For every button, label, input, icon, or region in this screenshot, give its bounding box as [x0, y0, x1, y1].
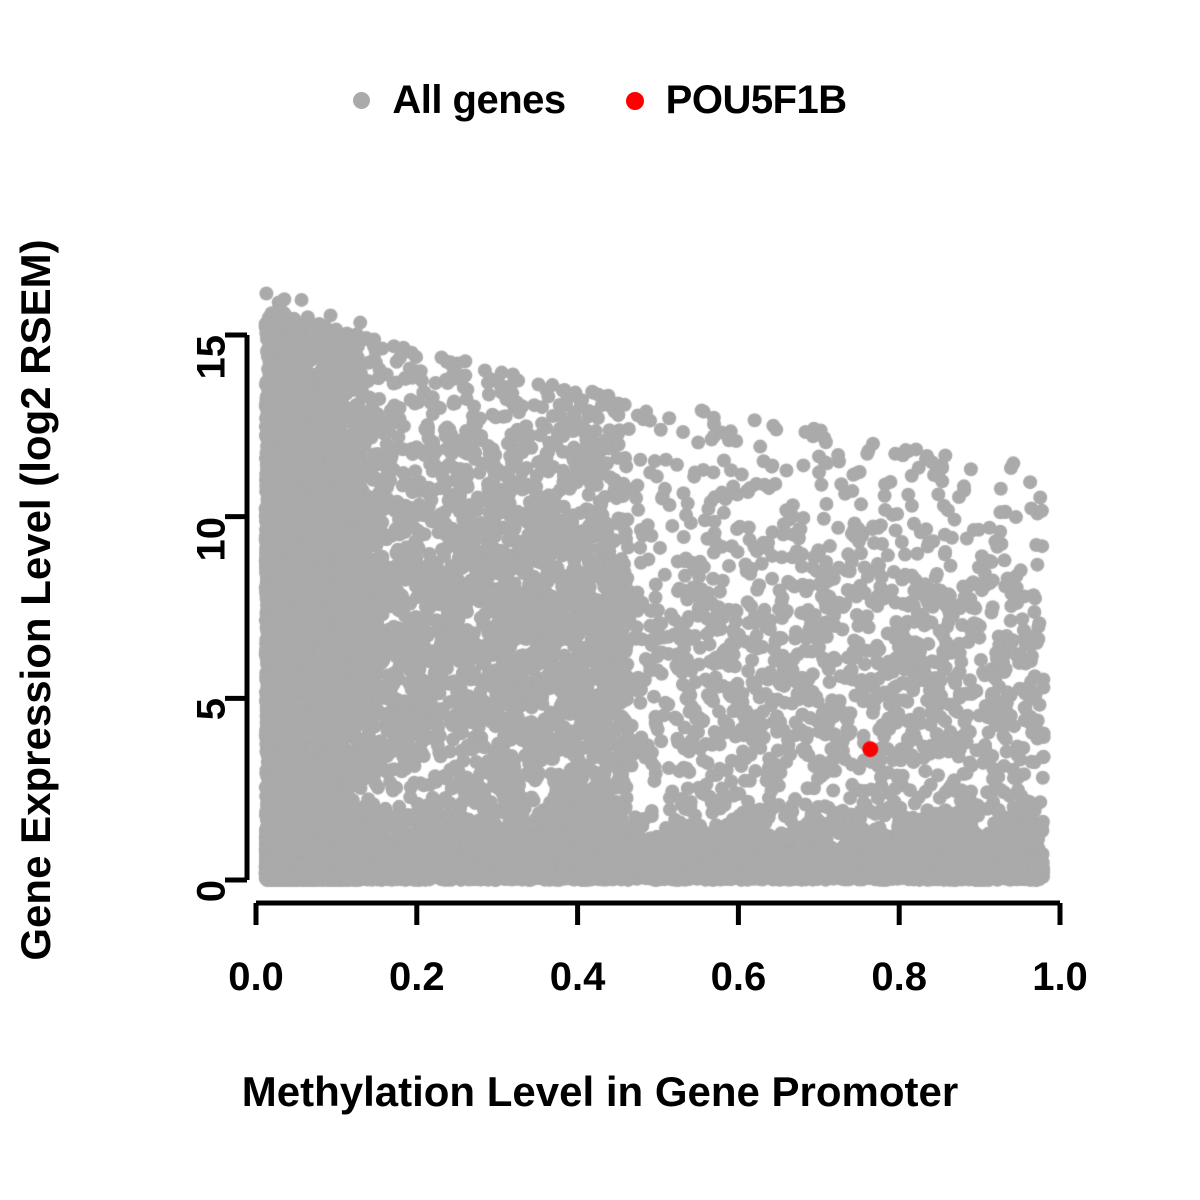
y-tick-label: 15: [190, 335, 235, 380]
y-tick-label: 10: [190, 517, 235, 562]
scatter-plot-figure: All genes POU5F1B 051015 0.00.20.40.60.8…: [0, 0, 1200, 1200]
y-tick-label: 0: [190, 880, 235, 902]
x-tick-label: 0.4: [550, 955, 606, 1000]
x-tick-label: 0.0: [228, 955, 284, 1000]
x-tick-label: 0.6: [711, 955, 767, 1000]
x-tick-label: 0.2: [389, 955, 445, 1000]
x-tick-label: 0.8: [871, 955, 927, 1000]
y-tick-label: 5: [190, 698, 235, 720]
y-axis-title: Gene Expression Level (log2 RSEM): [14, 0, 58, 1200]
scatter-point-cloud: [0, 0, 1200, 1200]
x-tick-label: 1.0: [1032, 955, 1088, 1000]
x-axis-title: Methylation Level in Gene Promoter: [0, 1068, 1200, 1116]
